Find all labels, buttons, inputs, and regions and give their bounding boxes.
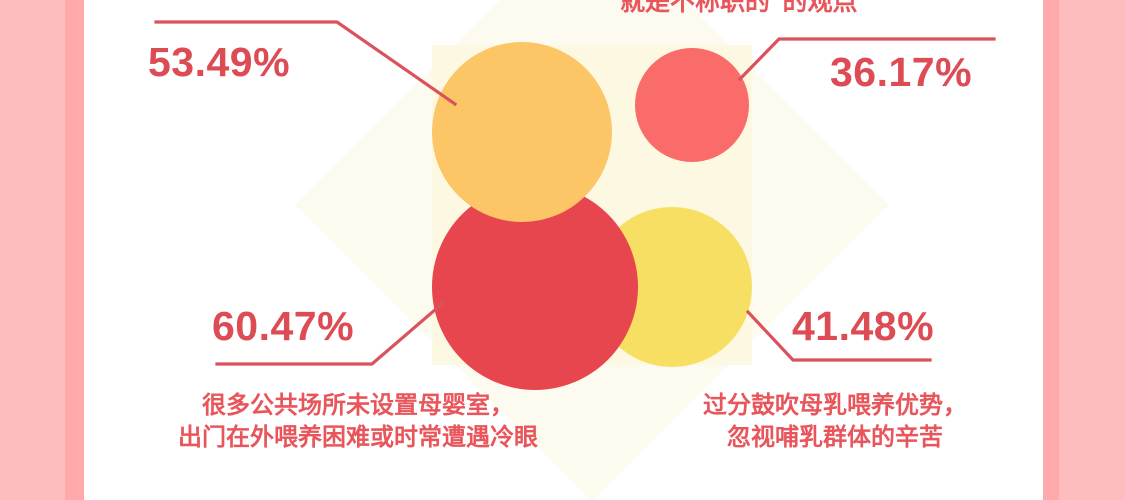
frame-band-left-outer xyxy=(0,0,65,500)
caption-bottom-right: 过分鼓吹母乳喂养优势， 忽视哺乳群体的辛苦 xyxy=(650,390,1020,454)
bubble-salmon xyxy=(635,48,749,162)
bubble-orange xyxy=(432,42,612,222)
caption-bottom-left-line1: 很多公共场所未设置母婴室， xyxy=(120,390,596,422)
caption-bottom-left: 很多公共场所未设置母婴室， 出门在外喂养困难或时常遭遇冷眼 xyxy=(120,390,596,454)
caption-top-right-line1: 就是不称职的”的观点 xyxy=(620,0,858,19)
frame-band-left-inner xyxy=(65,0,84,500)
caption-bottom-right-line2: 忽视哺乳群体的辛苦 xyxy=(650,422,1020,454)
caption-bottom-right-line1: 过分鼓吹母乳喂养优势， xyxy=(650,390,1020,422)
infographic-canvas: 53.49% 36.17% 60.47% 41.48% 就是不称职的”的观点 很… xyxy=(0,0,1125,500)
percent-label-bottom-left: 60.47% xyxy=(212,306,354,347)
frame-band-right-outer xyxy=(1059,0,1125,500)
caption-bottom-left-line2: 出门在外喂养困难或时常遭遇冷眼 xyxy=(120,422,596,454)
percent-label-top-left: 53.49% xyxy=(148,42,290,83)
caption-top-right: 就是不称职的”的观点 xyxy=(620,0,858,19)
frame-band-right-inner xyxy=(1043,0,1059,500)
percent-label-top-right: 36.17% xyxy=(830,52,972,93)
percent-label-bottom-right: 41.48% xyxy=(792,306,934,347)
